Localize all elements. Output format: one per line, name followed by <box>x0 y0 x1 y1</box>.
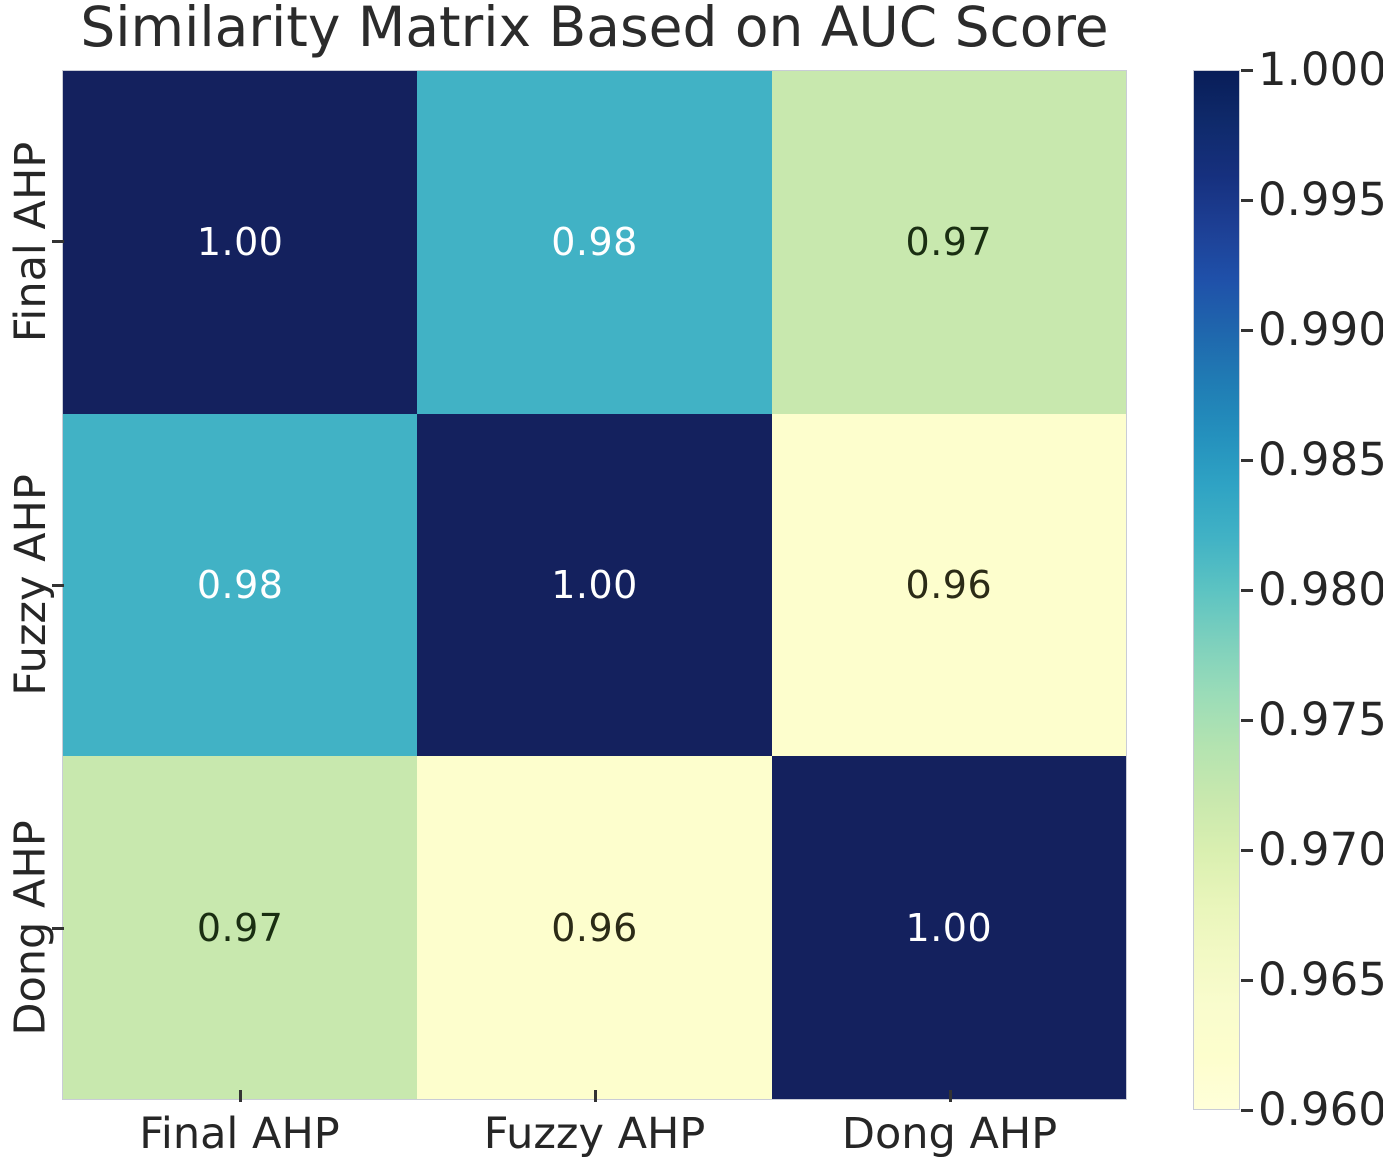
heatmap-cell-r0c0[interactable]: 1.00 <box>63 71 417 414</box>
colorbar-tick-label: 0.980 <box>1258 565 1383 615</box>
heatmap-cell-r0c2[interactable]: 0.97 <box>772 71 1126 414</box>
heatmap-cell-r2c2[interactable]: 1.00 <box>772 756 1126 1099</box>
heatmap-plot-area: 1.00 0.98 0.97 0.98 1.00 0.96 0.97 0.96 <box>62 70 1127 1100</box>
colorbar-tick-label: 0.965 <box>1258 955 1383 1005</box>
colorbar-tick-label: 0.985 <box>1258 435 1383 485</box>
y-axis-tick-text: Dong AHP <box>6 820 56 1035</box>
heatmap-cell-value: 1.00 <box>551 563 638 607</box>
y-axis-tick-mark <box>52 240 64 243</box>
x-axis-tick-mark <box>594 1090 597 1102</box>
chart-title: Similarity Matrix Based on AUC Score <box>62 0 1127 62</box>
y-axis-tick-mark <box>52 584 64 587</box>
colorbar-tick-label: 0.970 <box>1258 825 1383 875</box>
x-axis-tick-mark <box>239 1090 242 1102</box>
heatmap-cell-r1c2[interactable]: 0.96 <box>772 414 1126 757</box>
heatmap-cell-r2c1[interactable]: 0.96 <box>417 756 771 1099</box>
heatmap-cell-value: 0.96 <box>906 563 993 607</box>
x-axis-tick-mark <box>949 1090 952 1102</box>
x-axis-tick-label-final-ahp: Final AHP <box>62 1104 417 1164</box>
colorbar-tick-mark <box>1241 199 1253 202</box>
colorbar-gradient <box>1194 71 1239 1109</box>
colorbar-tick-mark <box>1241 979 1253 982</box>
colorbar-tick-label: 0.990 <box>1258 305 1383 355</box>
y-axis-tick-text: Fuzzy AHP <box>6 474 56 696</box>
colorbar-tick-mark <box>1241 849 1253 852</box>
heatmap-cell-r2c0[interactable]: 0.97 <box>63 756 417 1099</box>
heatmap-cell-grid: 1.00 0.98 0.97 0.98 1.00 0.96 0.97 0.96 <box>63 71 1126 1099</box>
colorbar-tick-mark <box>1241 69 1253 72</box>
figure-canvas: Similarity Matrix Based on AUC Score 1.0… <box>0 0 1383 1166</box>
heatmap-cell-value: 0.96 <box>551 906 638 950</box>
heatmap-cell-value: 0.97 <box>906 220 993 264</box>
colorbar-tick-label: 1.000 <box>1258 45 1383 95</box>
colorbar[interactable] <box>1193 70 1240 1110</box>
colorbar-tick-mark <box>1241 589 1253 592</box>
heatmap-cell-r1c1[interactable]: 1.00 <box>417 414 771 757</box>
x-axis-tick-label-dong-ahp: Dong AHP <box>772 1104 1127 1164</box>
y-axis-tick-mark <box>52 927 64 930</box>
heatmap-cell-value: 1.00 <box>197 220 284 264</box>
y-axis-tick-text: Final AHP <box>6 141 56 341</box>
colorbar-tick-mark <box>1241 329 1253 332</box>
heatmap-cell-value: 0.98 <box>197 563 284 607</box>
colorbar-tick-mark <box>1241 719 1253 722</box>
colorbar-tick-label: 0.960 <box>1258 1085 1383 1135</box>
heatmap-cell-value: 0.97 <box>197 906 284 950</box>
heatmap-cell-value: 0.98 <box>551 220 638 264</box>
heatmap-cell-value: 1.00 <box>906 906 993 950</box>
heatmap-cell-r1c0[interactable]: 0.98 <box>63 414 417 757</box>
colorbar-tick-mark <box>1241 1109 1253 1112</box>
x-axis-tick-label-fuzzy-ahp: Fuzzy AHP <box>417 1104 772 1164</box>
colorbar-tick-mark <box>1241 459 1253 462</box>
colorbar-tick-label: 0.975 <box>1258 695 1383 745</box>
colorbar-tick-label: 0.995 <box>1258 175 1383 225</box>
heatmap-cell-r0c1[interactable]: 0.98 <box>417 71 771 414</box>
